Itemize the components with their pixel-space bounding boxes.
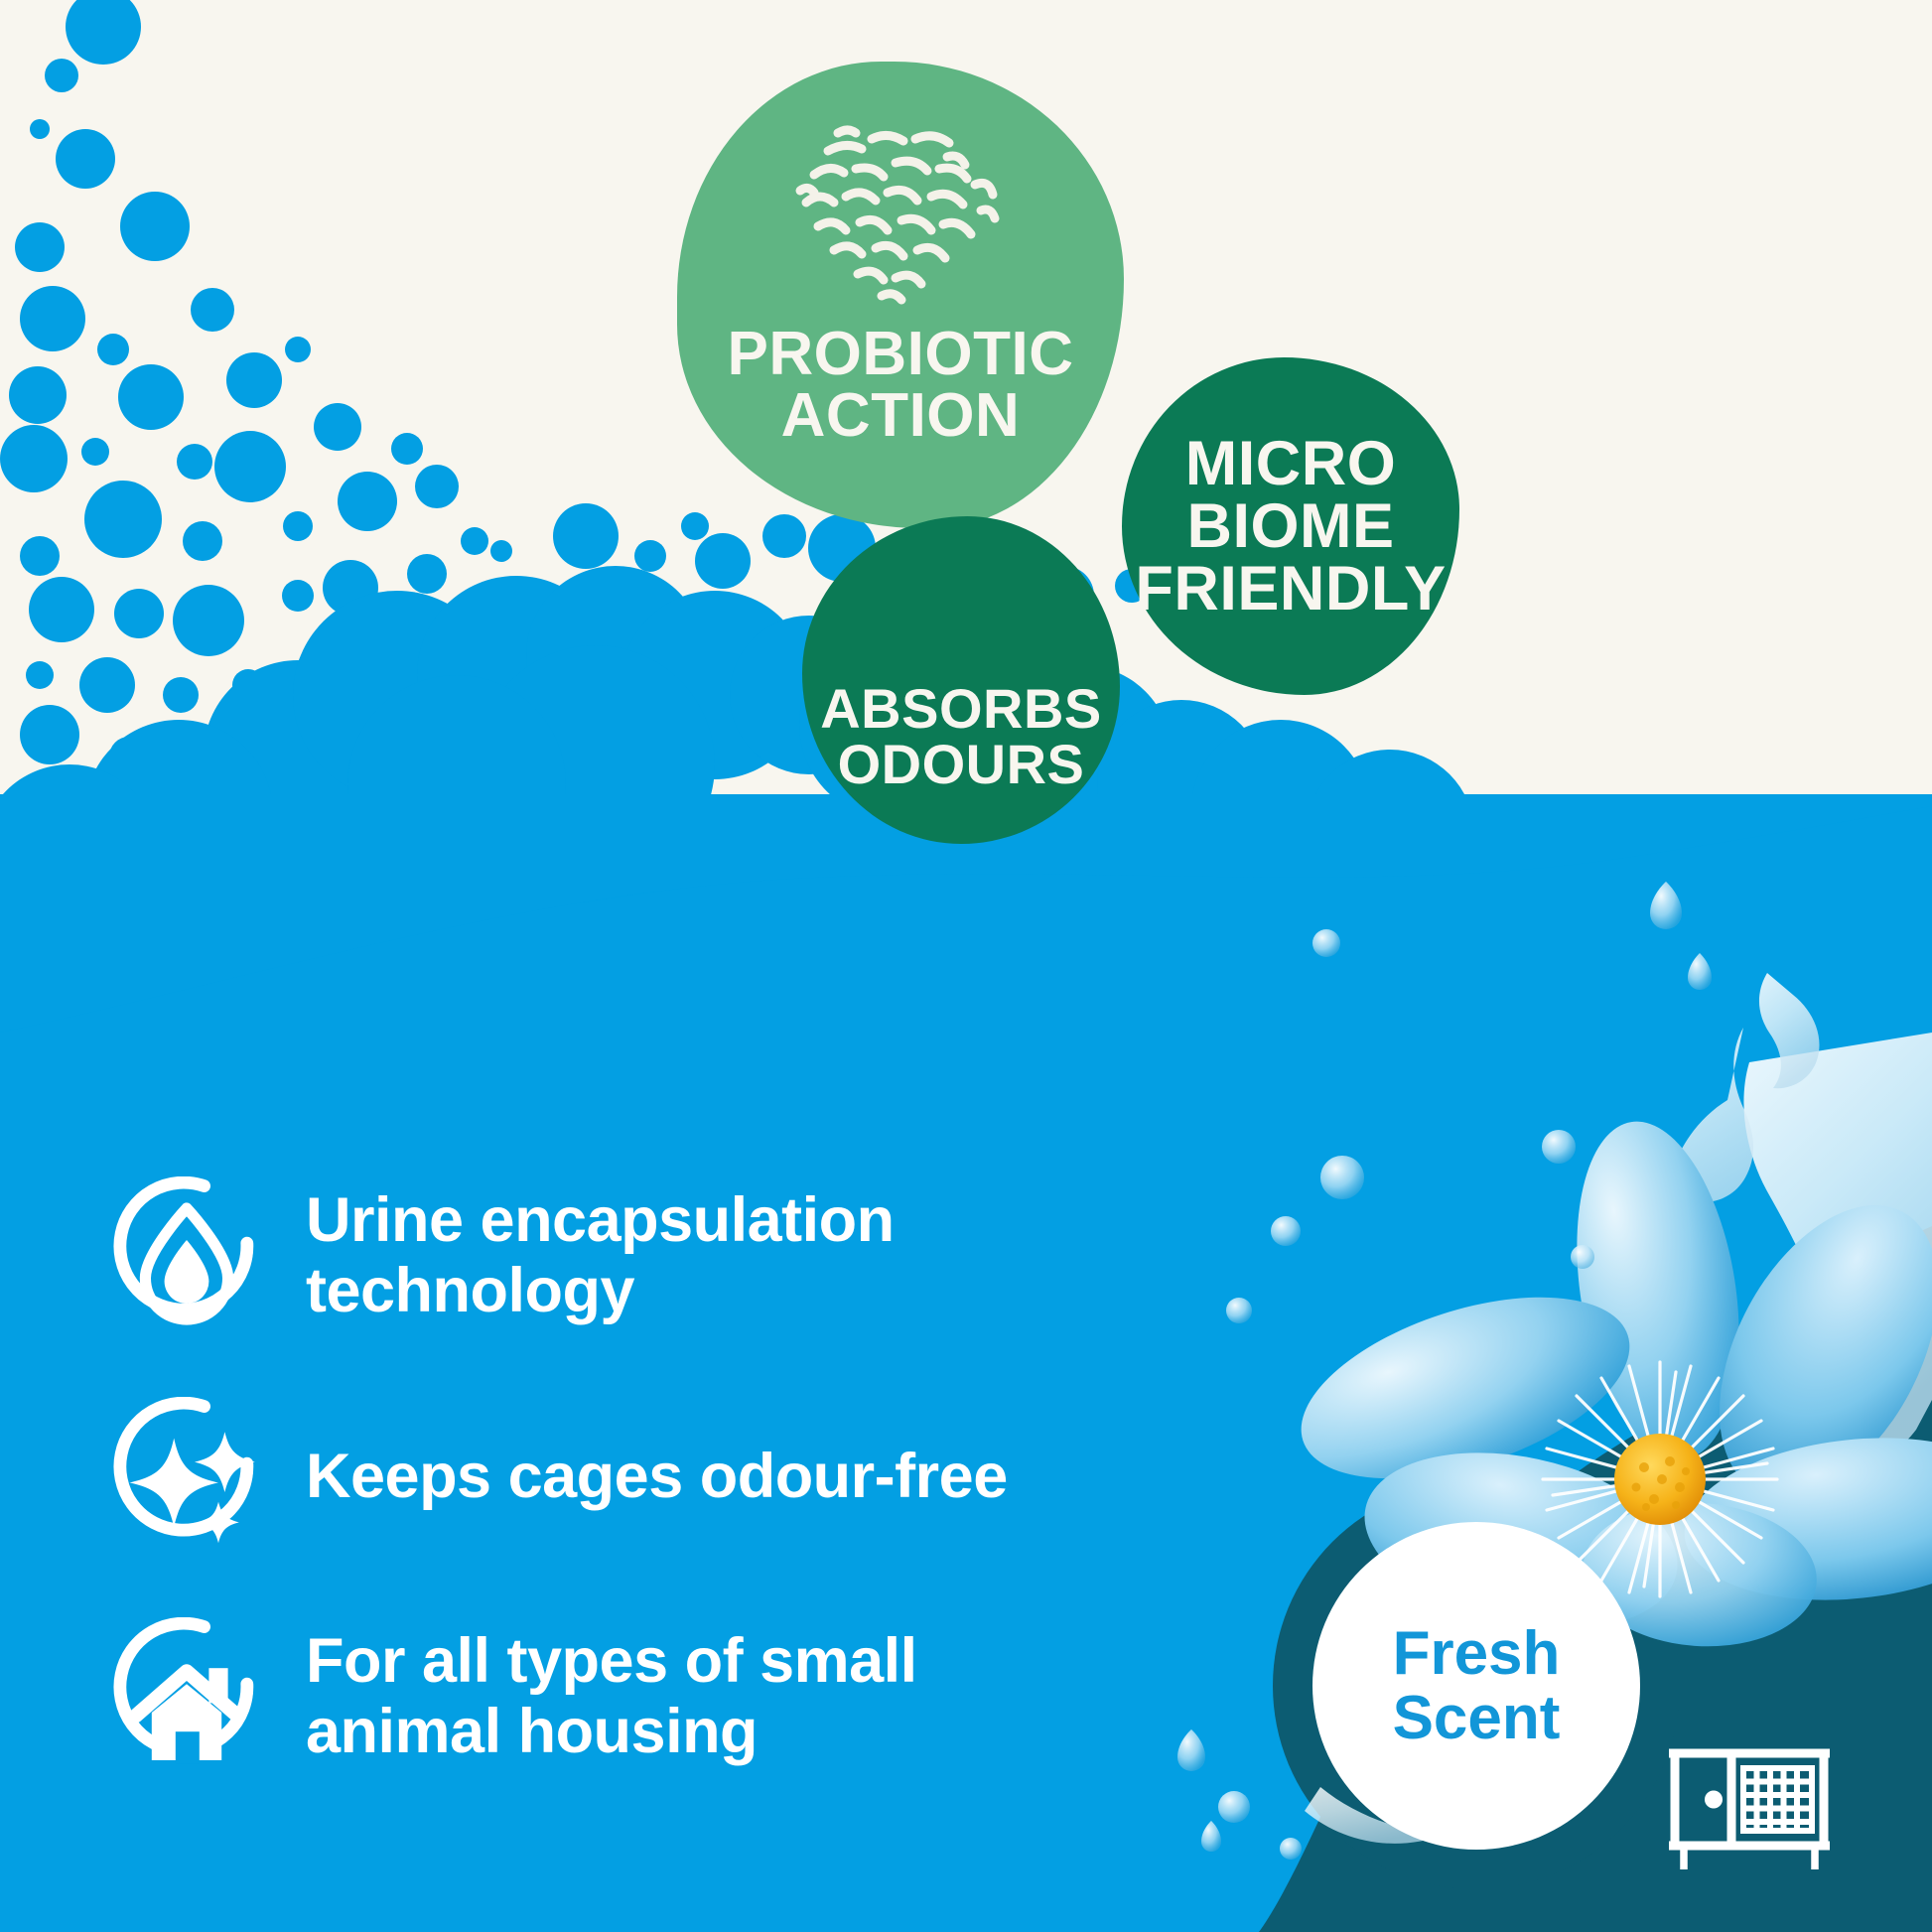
feature-small-animal-housing: For all types of small animal housing [107,1617,1100,1776]
bacteria-heart-icon [776,99,1025,308]
badge-microbiome-label: MICRO BIOME FRIENDLY [1135,433,1446,621]
sparkles-icon [107,1397,266,1556]
badge-probiotic-label: PROBIOTIC ACTION [728,324,1074,447]
feature-label-small-animal-housing: For all types of small animal housing [306,1626,1040,1766]
feature-urine-encapsulation: Urine encapsulation technology [107,1176,1100,1335]
badge-micro-biome-friendly: MICRO BIOME FRIENDLY [1122,357,1459,695]
badge-absorbs-label: ABSORBS ODOURS [820,681,1102,792]
small-animal-cage-icon [1660,1732,1839,1881]
product-feature-poster: PROBIOTIC ACTION MICRO BIOME FRIENDLY AB… [0,0,1932,1932]
feature-label-odour-free: Keeps cages odour-free [306,1442,1008,1512]
badge-probiotic-action: PROBIOTIC ACTION [677,62,1124,528]
feature-list: Urine encapsulation technology Keeps cag… [107,1176,1100,1838]
feature-odour-free: Keeps cages odour-free [107,1397,1100,1556]
house-icon [107,1617,266,1776]
fresh-scent-label: Fresh Scent [1393,1621,1561,1750]
badge-absorbs-odours: ABSORBS ODOURS [802,516,1120,844]
water-droplet-icon [107,1176,266,1335]
fresh-scent-badge: Fresh Scent [1312,1522,1640,1850]
feature-label-urine-encapsulation: Urine encapsulation technology [306,1185,1040,1325]
